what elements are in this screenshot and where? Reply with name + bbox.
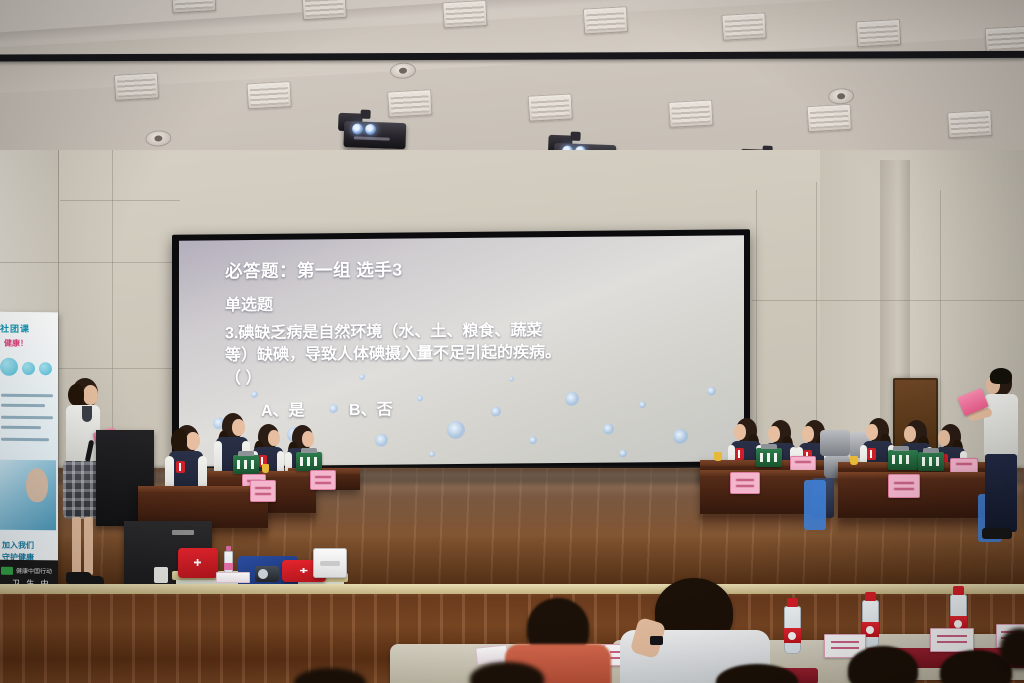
recessed-ceiling-light [171, 0, 216, 13]
recessed-ceiling-light [985, 26, 1024, 54]
stage-light-knob [570, 132, 580, 141]
recessed-ceiling-light [387, 89, 432, 117]
slide-text-block: 必答题：第一组 选手3 单选题 3.碘缺乏病是自然环境（水、土、粮食、蔬菜 等）… [225, 255, 730, 423]
banner-footer-text: 健康中国行动 [16, 566, 52, 575]
buzzer-device[interactable] [296, 452, 322, 471]
metal-equipment [820, 430, 850, 456]
buzzer-device[interactable] [233, 455, 259, 474]
paper-cup [714, 452, 722, 461]
slide-answer-a: A、是 [261, 403, 305, 420]
judge-name-card [930, 628, 974, 652]
blue-chair [804, 480, 826, 530]
host-left-leg [84, 517, 93, 575]
team-name-card [250, 480, 276, 502]
host-left-hair [68, 384, 84, 406]
banner-circle-icon [22, 362, 35, 375]
buzzer-device[interactable] [756, 448, 782, 467]
recessed-ceiling-light [947, 110, 992, 138]
banner-headline: 社团课 [0, 322, 30, 335]
blood-pressure-monitor [255, 566, 279, 582]
first-aid-backpack-red [178, 548, 218, 578]
stage-light [337, 113, 406, 149]
slide-question-line-2: 等）缺碘，导致人体碘摄入量不足引起的疾病。 [225, 342, 730, 367]
wall-seam [752, 300, 1024, 301]
recessed-ceiling-light [114, 72, 159, 100]
banner-logo-icon [1, 567, 13, 575]
wristwatch [650, 636, 663, 645]
host-left-leg [72, 517, 81, 575]
recessed-ceiling-light [583, 6, 628, 34]
host-right-trousers [985, 454, 1017, 532]
host-left-collar [82, 406, 92, 422]
slide-answer-b: B、否 [349, 402, 393, 419]
recessed-ceiling-light [302, 0, 347, 20]
banner-slogan-line-1: 加入我们 [2, 540, 34, 552]
slide-subtitle: 单选题 [225, 292, 730, 317]
recessed-ceiling-light [856, 19, 901, 47]
water-bottle [784, 606, 801, 654]
sprinkler-head [828, 88, 855, 105]
host-left-face [83, 385, 98, 405]
team-name-card [310, 470, 336, 490]
rollup-banner: 社团课 健康！ 加入我们 守护健康 健康中国行动 卫 生 中 心 [0, 312, 58, 595]
wall-seam [0, 262, 176, 263]
banner-circle-icon [0, 358, 18, 376]
slide-title: 必答题：第一组 选手3 [225, 255, 730, 282]
stage-light-knob [360, 110, 370, 119]
recessed-ceiling-light [442, 0, 487, 28]
buzzer-device[interactable] [918, 452, 944, 471]
recessed-ceiling-light [807, 104, 852, 132]
sprinkler-head [390, 62, 417, 79]
banner-circle-icon [39, 362, 52, 375]
pamphlet-stack [216, 572, 250, 583]
slide-question-line-1: 3.碘缺乏病是自然环境（水、土、粮食、蔬菜 [225, 319, 730, 344]
recessed-ceiling-light [528, 93, 573, 121]
banner-subline: 健康！ [4, 338, 28, 349]
recessed-ceiling-light [721, 12, 766, 40]
host-right-shoe [982, 528, 1012, 539]
paper-cup [850, 456, 858, 465]
wall-seam [60, 200, 180, 201]
sprinkler-head [145, 130, 172, 147]
recessed-ceiling-light [668, 99, 713, 127]
medical-case-white [313, 548, 347, 578]
buzzer-device[interactable] [888, 450, 918, 470]
team-name-card [790, 456, 816, 471]
speaker-jack [154, 567, 168, 583]
slide-answer-row: A、是 B、否 [225, 398, 730, 423]
team-name-card [730, 472, 760, 494]
team-name-card [888, 474, 920, 498]
paper-cup [262, 464, 269, 473]
recessed-ceiling-light [246, 81, 291, 109]
slide-question-line-3: （ ） [225, 364, 730, 389]
banner-photo [0, 460, 56, 531]
host-right [976, 370, 1024, 570]
auditorium-scene: 必答题：第一组 选手3 单选题 3.碘缺乏病是自然环境（水、土、粮食、蔬菜 等）… [0, 0, 1024, 683]
